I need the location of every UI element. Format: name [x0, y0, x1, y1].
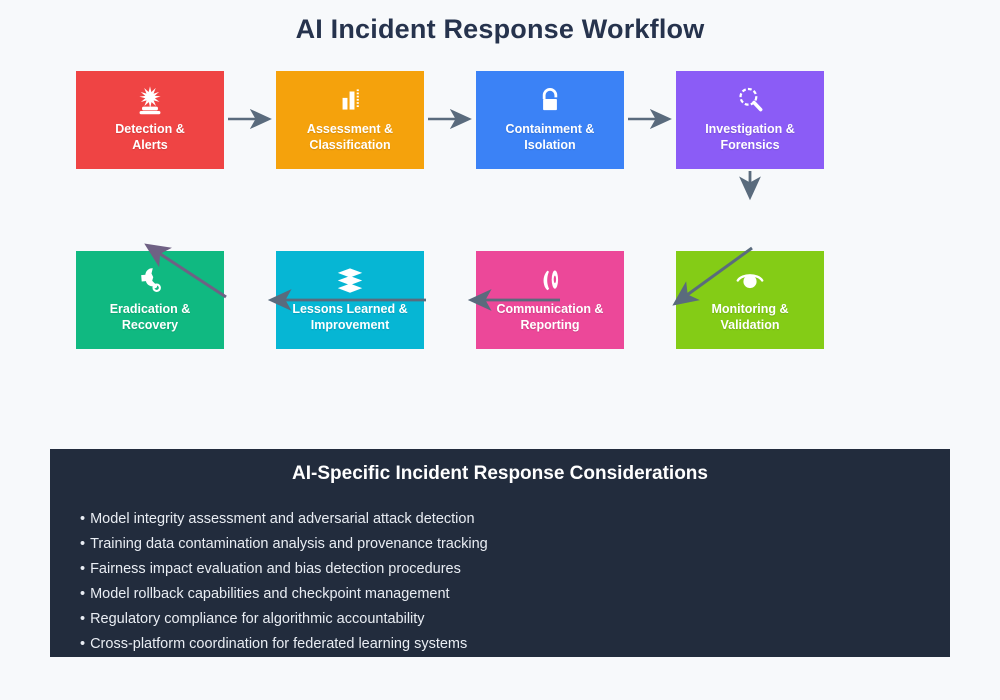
eye-icon: [733, 263, 767, 297]
workflow-node-communication-reporting[interactable]: Communication & Reporting: [476, 251, 624, 349]
workflow-node-eradication-recovery[interactable]: Eradication & Recovery: [76, 251, 224, 349]
workflow-node-assessment-classification[interactable]: Assessment & Classification: [276, 71, 424, 169]
bullet-icon: •: [80, 582, 85, 607]
node-label: Containment & Isolation: [502, 121, 599, 153]
consideration-text: Model rollback capabilities and checkpoi…: [90, 586, 449, 602]
bar-chart-icon: [333, 83, 367, 117]
workflow-node-monitoring-validation[interactable]: Monitoring & Validation: [676, 251, 824, 349]
workflow-node-containment-isolation[interactable]: Containment & Isolation: [476, 71, 624, 169]
bullet-icon: •: [80, 532, 85, 557]
bullet-icon: •: [80, 557, 85, 582]
megaphone-icon: [533, 263, 567, 297]
wrench-icon: [133, 263, 167, 297]
consideration-item: •Fairness impact evaluation and bias det…: [80, 557, 920, 582]
consideration-item: •Model rollback capabilities and checkpo…: [80, 582, 920, 607]
workflow-diagram-canvas: AI Incident Response Workflow: [0, 0, 1000, 700]
workflow-node-lessons-learned[interactable]: Lessons Learned & Improvement: [276, 251, 424, 349]
considerations-title: AI-Specific Incident Response Considerat…: [80, 461, 920, 487]
node-label: Detection & Alerts: [111, 121, 188, 153]
consideration-text: Model integrity assessment and adversari…: [90, 511, 474, 527]
node-label: Lessons Learned & Improvement: [288, 301, 411, 333]
node-label: Monitoring & Validation: [707, 301, 792, 333]
bullet-icon: •: [80, 607, 85, 632]
magnifier-icon: [733, 83, 767, 117]
workflow-node-detection-alerts[interactable]: Detection & Alerts: [76, 71, 224, 169]
consideration-text: Training data contamination analysis and…: [90, 536, 488, 552]
consideration-item: •Model integrity assessment and adversar…: [80, 507, 920, 532]
node-label: Investigation & Forensics: [701, 121, 799, 153]
bullet-icon: •: [80, 507, 85, 532]
page-title: AI Incident Response Workflow: [0, 14, 1000, 45]
consideration-item: •Cross-platform coordination for federat…: [80, 632, 920, 657]
consideration-text: Regulatory compliance for algorithmic ac…: [90, 611, 424, 627]
siren-icon: [133, 83, 167, 117]
consideration-item: •Training data contamination analysis an…: [80, 532, 920, 557]
node-label: Communication & Reporting: [493, 301, 608, 333]
consideration-text: Fairness impact evaluation and bias dete…: [90, 561, 461, 577]
node-label: Assessment & Classification: [303, 121, 397, 153]
node-label: Eradication & Recovery: [106, 301, 195, 333]
books-icon: [333, 263, 367, 297]
considerations-panel: AI-Specific Incident Response Considerat…: [50, 449, 950, 657]
workflow-node-investigation-forensics[interactable]: Investigation & Forensics: [676, 71, 824, 169]
consideration-item: •Regulatory compliance for algorithmic a…: [80, 607, 920, 632]
bullet-icon: •: [80, 632, 85, 657]
lock-icon: [533, 83, 567, 117]
consideration-text: Cross-platform coordination for federate…: [90, 636, 467, 652]
